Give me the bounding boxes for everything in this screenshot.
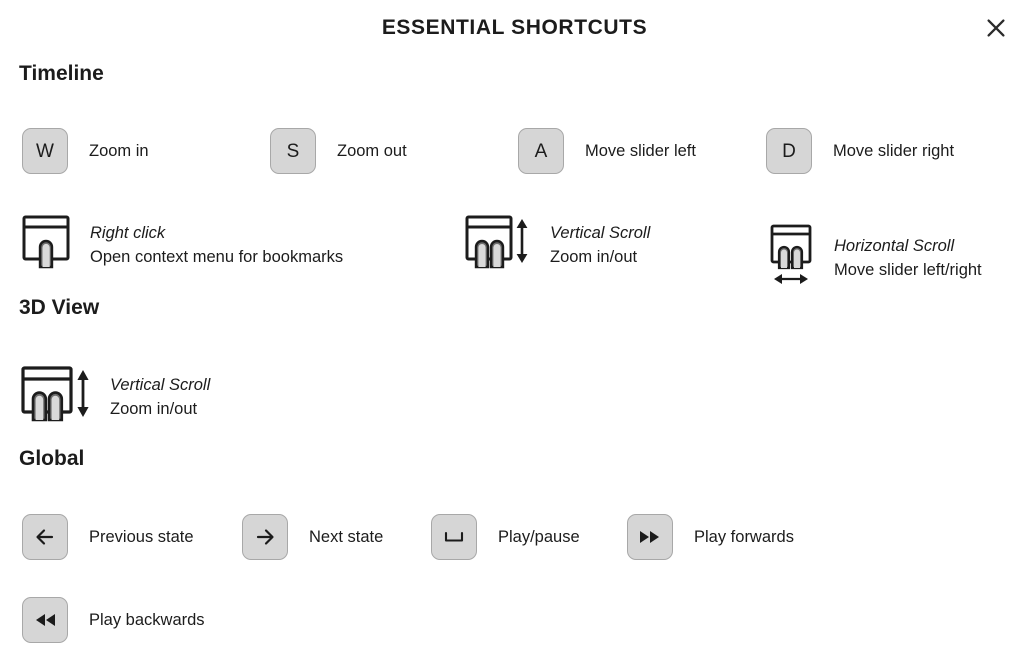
shortcut-label: Play backwards — [89, 611, 205, 630]
section-heading-3d-view: 3D View — [0, 296, 99, 320]
shortcut-play-pause[interactable]: Play/pause — [431, 511, 580, 563]
shortcuts-dialog: ESSENTIAL SHORTCUTS Timeline W Zoom in S… — [0, 0, 1029, 665]
shortcut-previous-state[interactable]: Previous state — [22, 511, 194, 563]
view3d-mouse-row: Vertical Scroll Zoom in/out — [0, 364, 1029, 428]
shortcut-zoom-out[interactable]: S Zoom out — [270, 125, 407, 177]
fast-forward-icon — [636, 527, 664, 547]
mouse-desc-label: Zoom in/out — [110, 398, 210, 421]
shortcut-move-slider-left[interactable]: A Move slider left — [518, 125, 696, 177]
shortcut-label: Play forwards — [694, 528, 794, 547]
shortcut-play-forwards[interactable]: Play forwards — [627, 511, 794, 563]
shortcut-text: Horizontal Scroll Move slider left/right — [834, 235, 982, 282]
shortcut-label: Next state — [309, 528, 383, 547]
mouse-action-label: Vertical Scroll — [110, 374, 210, 397]
shortcut-label: Move slider right — [833, 142, 954, 161]
key-a[interactable]: A — [518, 128, 564, 174]
close-button[interactable] — [979, 11, 1013, 45]
mouse-vertical-scroll-icon — [20, 364, 96, 431]
mouse-action-label: Vertical Scroll — [550, 222, 650, 245]
shortcut-play-backwards[interactable]: Play backwards — [22, 594, 205, 646]
shortcut-text: Right click Open context menu for bookma… — [90, 222, 343, 269]
shortcut-label: Previous state — [89, 528, 194, 547]
key-w[interactable]: W — [22, 128, 68, 174]
key-arrow-right[interactable] — [242, 514, 288, 560]
arrow-left-icon — [33, 525, 57, 549]
shortcut-text: Vertical Scroll Zoom in/out — [110, 374, 210, 421]
mouse-action-label: Right click — [90, 222, 343, 245]
shortcut-label: Move slider left — [585, 142, 696, 161]
mouse-right-click-icon — [20, 213, 76, 278]
timeline-key-row: W Zoom in S Zoom out A Move slider left … — [0, 125, 1029, 177]
key-fast-forward[interactable] — [627, 514, 673, 560]
mouse-desc-label: Move slider left/right — [834, 259, 982, 282]
section-heading-global: Global — [0, 447, 84, 471]
section-heading-timeline: Timeline — [0, 62, 104, 86]
mouse-vertical-scroll-icon — [464, 213, 536, 278]
section-timeline: Timeline — [0, 62, 104, 86]
rewind-icon — [31, 610, 59, 630]
key-d[interactable]: D — [766, 128, 812, 174]
close-icon — [985, 17, 1007, 39]
mouse-desc-label: Open context menu for bookmarks — [90, 246, 343, 269]
global-key-row-1: Previous state Next state — [0, 511, 1029, 563]
key-arrow-left[interactable] — [22, 514, 68, 560]
global-key-row-2: Play backwards — [0, 594, 1029, 646]
shortcut-horizontal-scroll-timeline[interactable]: Horizontal Scroll Move slider left/right — [768, 223, 982, 294]
shortcut-zoom-in[interactable]: W Zoom in — [22, 125, 149, 177]
shortcut-right-click[interactable]: Right click Open context menu for bookma… — [20, 213, 343, 278]
shortcut-text: Vertical Scroll Zoom in/out — [550, 222, 650, 269]
page-title: ESSENTIAL SHORTCUTS — [382, 16, 647, 40]
shortcut-move-slider-right[interactable]: D Move slider right — [766, 125, 954, 177]
shortcut-vertical-scroll-timeline[interactable]: Vertical Scroll Zoom in/out — [464, 213, 650, 278]
key-rewind[interactable] — [22, 597, 68, 643]
spacebar-icon — [441, 527, 467, 547]
key-spacebar[interactable] — [431, 514, 477, 560]
shortcut-label: Play/pause — [498, 528, 580, 547]
section-3d-view: 3D View — [0, 296, 99, 320]
timeline-mouse-row: Right click Open context menu for bookma… — [0, 213, 1029, 277]
mouse-action-label: Horizontal Scroll — [834, 235, 982, 258]
shortcut-next-state[interactable]: Next state — [242, 511, 383, 563]
mouse-horizontal-scroll-icon — [768, 223, 820, 294]
section-global: Global — [0, 447, 84, 471]
mouse-desc-label: Zoom in/out — [550, 246, 650, 269]
arrow-right-icon — [253, 525, 277, 549]
shortcut-label: Zoom in — [89, 142, 149, 161]
shortcut-label: Zoom out — [337, 142, 407, 161]
key-s[interactable]: S — [270, 128, 316, 174]
dialog-header: ESSENTIAL SHORTCUTS — [0, 0, 1029, 56]
shortcut-vertical-scroll-3dview[interactable]: Vertical Scroll Zoom in/out — [20, 364, 210, 431]
